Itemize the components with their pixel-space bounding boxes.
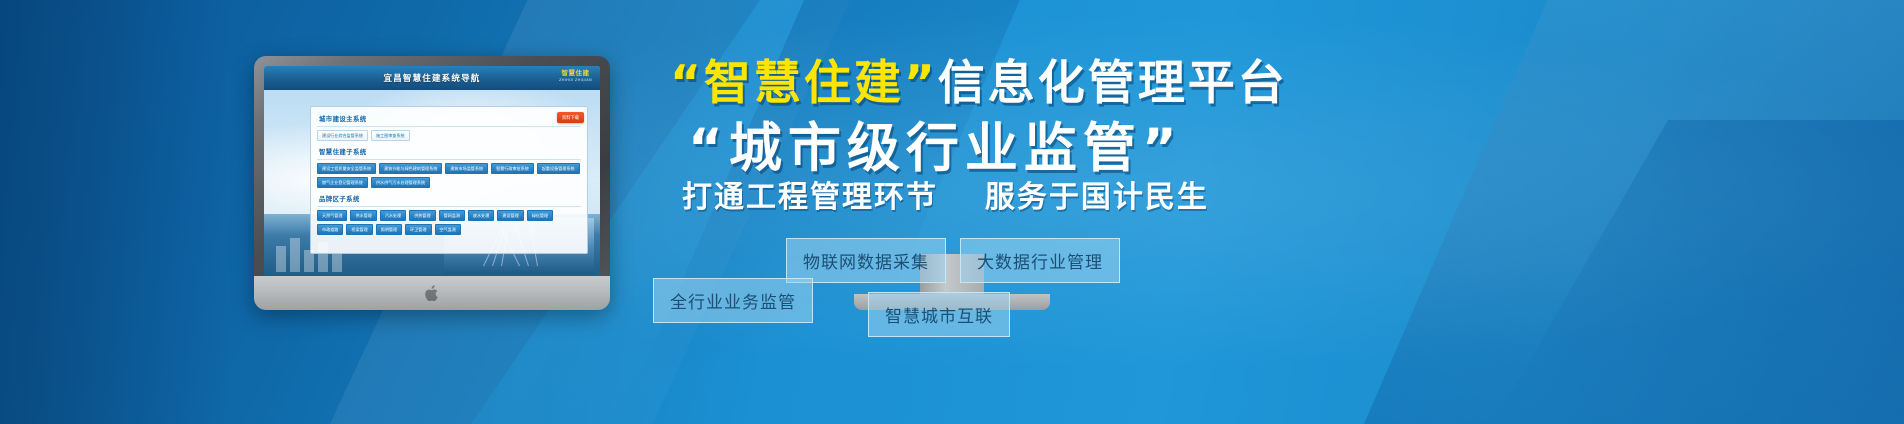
screen-section-title-main: 城市建设主系统 xyxy=(317,112,581,127)
screen-nav-item[interactable]: 建筑市场监管系统 xyxy=(445,163,488,174)
feature-pill-smartcity[interactable]: 智慧城市互联 xyxy=(868,292,1010,337)
screen-nav-item[interactable]: 环卫管理 xyxy=(405,224,431,235)
headline-primary-quoted: “智慧住建” xyxy=(670,56,938,111)
monitor-screen: 宜昌智慧住建系统导航 智慧住建 ZHIHUI ZHUJIAN 城市建设主系统 建… xyxy=(264,66,600,276)
feature-pill-bigdata[interactable]: 大数据行业管理 xyxy=(960,238,1120,283)
screen-section-items-sub: 建设工程质量安全监管系统 建筑节能与绿色建筑管理系统 建筑市场监管系统 智慧行政… xyxy=(317,163,581,188)
screen-section-title-sub: 智慧住建子系统 xyxy=(317,145,581,160)
screen-nav-item[interactable]: 建设工程质量安全监管系统 xyxy=(317,163,376,174)
screen-nav-item[interactable]: 供水管理 xyxy=(350,210,376,221)
screen-nav-item[interactable]: 管网监测 xyxy=(439,210,465,221)
screen-nav-item[interactable]: 建设管理 xyxy=(497,210,523,221)
screen-section-items-main: 建设行业综合监管系统 施工图审查系统 xyxy=(317,130,581,141)
tagline-part-b: 服务于国计民生 xyxy=(985,180,1209,215)
screen-nav-item[interactable]: 照明管理 xyxy=(376,224,402,235)
screen-nav-item[interactable]: 供热管理 xyxy=(409,210,435,221)
screen-nav-item[interactable]: 绿化管理 xyxy=(527,210,553,221)
screen-header-title: 宜昌智慧住建系统导航 xyxy=(383,72,480,84)
screen-building xyxy=(276,246,286,272)
screen-building xyxy=(290,238,300,272)
screen-building xyxy=(332,253,342,272)
screen-nav-item[interactable]: 智慧行政审批系统 xyxy=(491,163,534,174)
copy-block: “智慧住建”信息化管理平台 “城市级行业监管” 打通工程管理环节 服务于国计民生… xyxy=(640,0,1770,424)
screen-header-bar: 宜昌智慧住建系统导航 xyxy=(264,66,600,90)
screen-nav-item[interactable]: 污水处理 xyxy=(380,210,406,221)
screen-nav-item[interactable]: 建设行业综合监管系统 xyxy=(317,130,368,141)
apple-logo-icon xyxy=(424,284,440,303)
screen-logo-sub: ZHIHUI ZHUJIAN xyxy=(559,79,592,83)
screen-nav-item[interactable]: 天然气管理 xyxy=(317,210,347,221)
screen-download-button[interactable]: 资料下载 xyxy=(557,112,584,123)
screen-nav-item[interactable]: 燃气企业登记管理系统 xyxy=(317,177,368,188)
screen-logo-main: 智慧住建 xyxy=(559,70,592,77)
monitor-chin xyxy=(254,276,610,310)
screen-section-title-brand: 品牌区子系统 xyxy=(317,192,581,207)
screen-logo: 智慧住建 ZHIHUI ZHUJIAN xyxy=(559,70,592,82)
headline-secondary: “城市级行业监管” xyxy=(688,106,1183,182)
screen-nav-item[interactable]: 供水供气污水处理管理系统 xyxy=(371,177,430,188)
screen-nav-item[interactable]: 起重设备管理系统 xyxy=(537,163,580,174)
screen-section-items-brand: 天然气管理 供水管理 污水处理 供热管理 管网监测 废水处理 建设管理 绿化管理… xyxy=(317,210,581,235)
screen-nav-panel: 城市建设主系统 建设行业综合监管系统 施工图审查系统 智慧住建子系统 建设工程质… xyxy=(310,106,588,254)
screen-nav-item[interactable]: 桥梁管理 xyxy=(346,224,372,235)
screen-canvas: 宜昌智慧住建系统导航 智慧住建 ZHIHUI ZHUJIAN 城市建设主系统 建… xyxy=(264,66,600,276)
headline-primary-rest: 信息化管理平台 xyxy=(938,56,1288,111)
screen-nav-item[interactable]: 建筑节能与绿色建筑管理系统 xyxy=(379,163,442,174)
screen-nav-item[interactable]: 市政道路 xyxy=(317,224,343,235)
hero-banner: 宜昌智慧住建系统导航 智慧住建 ZHIHUI ZHUJIAN 城市建设主系统 建… xyxy=(0,0,1904,424)
feature-pill-iot[interactable]: 物联网数据采集 xyxy=(786,238,946,283)
screen-nav-item[interactable]: 空气监测 xyxy=(435,224,461,235)
imac-mockup: 宜昌智慧住建系统导航 智慧住建 ZHIHUI ZHUJIAN 城市建设主系统 建… xyxy=(254,56,610,310)
tagline-part-a: 打通工程管理环节 xyxy=(682,180,938,215)
screen-nav-item[interactable]: 施工图审查系统 xyxy=(371,130,410,141)
headline-primary: “智慧住建”信息化管理平台 xyxy=(670,44,1288,113)
headline-tagline: 打通工程管理环节 服务于国计民生 xyxy=(682,172,1209,216)
feature-pill-industry[interactable]: 全行业业务监管 xyxy=(653,278,813,323)
screen-nav-item[interactable]: 废水处理 xyxy=(468,210,494,221)
